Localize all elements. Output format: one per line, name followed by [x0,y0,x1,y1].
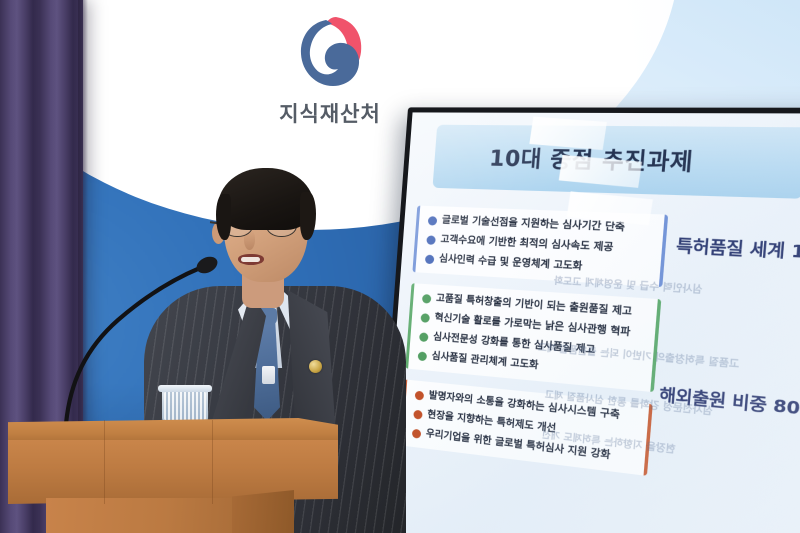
slide-bullet-groups: 글로벌 기술선점을 지원하는 심사기간 단축 고객수요에 기반한 최적의 심사속… [399,206,669,488]
podium-column-side [232,490,294,533]
slide-goal-column: 특허품질 세계 1위 해외출원 비중 80% 산재권 무역수지 흑자 [675,208,800,215]
bullet-group-red: 발명자와의 소통을 강화하는 심사시스템 구축 현장을 지향하는 특허제도 개선… [399,379,652,475]
hair-side-left [216,194,231,240]
lapel-pin-icon [309,360,322,373]
list-item: 글로벌 기술선점을 지원하는 심사기간 단축 [428,214,656,236]
teeth [241,257,260,262]
bullet-group-blue: 글로벌 기술선점을 지원하는 심사기간 단축 고객수요에 기반한 최적의 심사속… [412,206,668,288]
bullet-dot-icon [415,390,424,400]
taegeuk-emblem-icon [296,14,364,92]
bullet-dot-icon [422,294,432,304]
bullet-dot-icon [420,313,430,323]
goal-text-1: 특허품질 세계 1위 [675,233,800,265]
bullet-dot-icon [425,255,435,265]
slide-title-text: 10대 중점 추진과제 [488,142,694,178]
podium-seam [104,420,105,504]
bullet-group-green: 고품질 특허창출의 기반이 되는 출원품질 제고 혁신기술 활로를 가로막는 낡… [405,283,661,392]
bullet-dot-icon [426,235,436,245]
clip-microphone-icon [262,366,275,384]
agency-logo: 지식재산처 [268,14,392,138]
agency-wordmark: 지식재산처 [268,98,392,128]
bullet-dot-icon [412,429,421,439]
bullet-dot-icon [413,410,422,420]
podium-seam [212,420,213,504]
glass-facets [164,392,206,420]
wall-display: 10대 중점 추진과제 글로벌 기술선점을 지원하는 심사기간 단축 고객수요에… [376,107,800,533]
bullet-dot-icon [418,351,428,361]
bullet-dot-icon [428,216,438,226]
water-glass [162,388,208,422]
list-item: 심사인력 수급 및 운영체계 고도화 [425,253,653,278]
goal-text-2: 해외출원 비중 80% [658,382,800,422]
press-briefing-photo: 지식재산처 10대 중점 추진과제 글로벌 기술선점을 지원하는 심사기간 단축… [0,0,800,533]
slide-title-pill: 10대 중점 추진과제 [433,125,800,199]
bullet-dot-icon [419,332,429,342]
display-screen: 10대 중점 추진과제 글로벌 기술선점을 지원하는 심사기간 단축 고객수요에… [381,112,800,533]
